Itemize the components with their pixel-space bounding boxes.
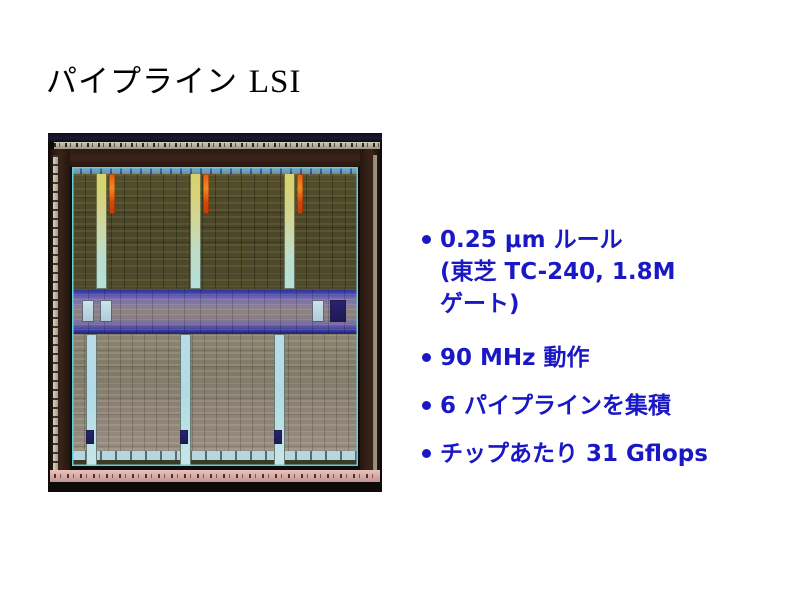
bullet-text-clock: 90 MHz 動作 (440, 342, 590, 374)
die-lower-pad-2 (180, 430, 188, 444)
die-bus-pad-2 (100, 300, 112, 322)
die-right-rail (360, 149, 380, 482)
die-top-bus-bar (72, 167, 358, 174)
die-column-strip-6 (274, 334, 285, 466)
bullet-dot-icon (422, 401, 431, 410)
die-bus-pad-3 (312, 300, 324, 322)
die-column-strip-1 (96, 169, 107, 289)
die-right-pad-strip (373, 155, 377, 476)
die-left-pad-strip (53, 155, 58, 476)
chip-die-photo (48, 133, 382, 492)
die-orange-marker-1 (109, 174, 115, 214)
die-lower-pad-1 (86, 430, 94, 444)
page-title-kana: パイプライン (46, 64, 238, 100)
die-bus-pad-1 (82, 300, 94, 322)
die-column-strip-3 (284, 169, 295, 289)
page-title-latin: LSI (249, 64, 302, 100)
die-top-navy-strip (48, 133, 382, 142)
die-column-strip-5 (180, 334, 191, 466)
page-title: パイプライン LSI (46, 62, 301, 102)
die-bus-pad-4 (330, 300, 346, 322)
die-column-strip-2 (190, 169, 201, 289)
list-item: 90 MHz 動作 (422, 342, 782, 374)
die-top-brown-band (50, 149, 380, 167)
list-item: 0.25 μm ルール (東芝 TC-240, 1.8M ゲート) (422, 224, 782, 320)
die-lower-logic-blocks (72, 334, 358, 452)
die-top-pad-row (54, 142, 380, 149)
die-bottom-pad-blocks (72, 451, 358, 460)
bullet-text-rule: 0.25 μm ルール (東芝 TC-240, 1.8M ゲート) (440, 224, 676, 320)
die-orange-marker-3 (297, 174, 303, 214)
bullet-dot-icon (422, 235, 431, 244)
die-column-strip-4 (86, 334, 97, 466)
list-item: 6 パイプラインを集積 (422, 390, 782, 422)
die-lower-pad-3 (274, 430, 282, 444)
bullet-text-pipelines: 6 パイプラインを集積 (440, 390, 671, 422)
die-bottom-pink-band (50, 470, 380, 482)
list-item: チップあたり 31 Gflops (422, 438, 782, 470)
bullet-dot-icon (422, 353, 431, 362)
bullet-text-gflops: チップあたり 31 Gflops (440, 438, 708, 470)
die-orange-marker-2 (203, 174, 209, 214)
bullet-list: 0.25 μm ルール (東芝 TC-240, 1.8M ゲート) 90 MHz… (422, 224, 782, 470)
die-core-area (72, 167, 358, 466)
bullet-dot-icon (422, 449, 431, 458)
